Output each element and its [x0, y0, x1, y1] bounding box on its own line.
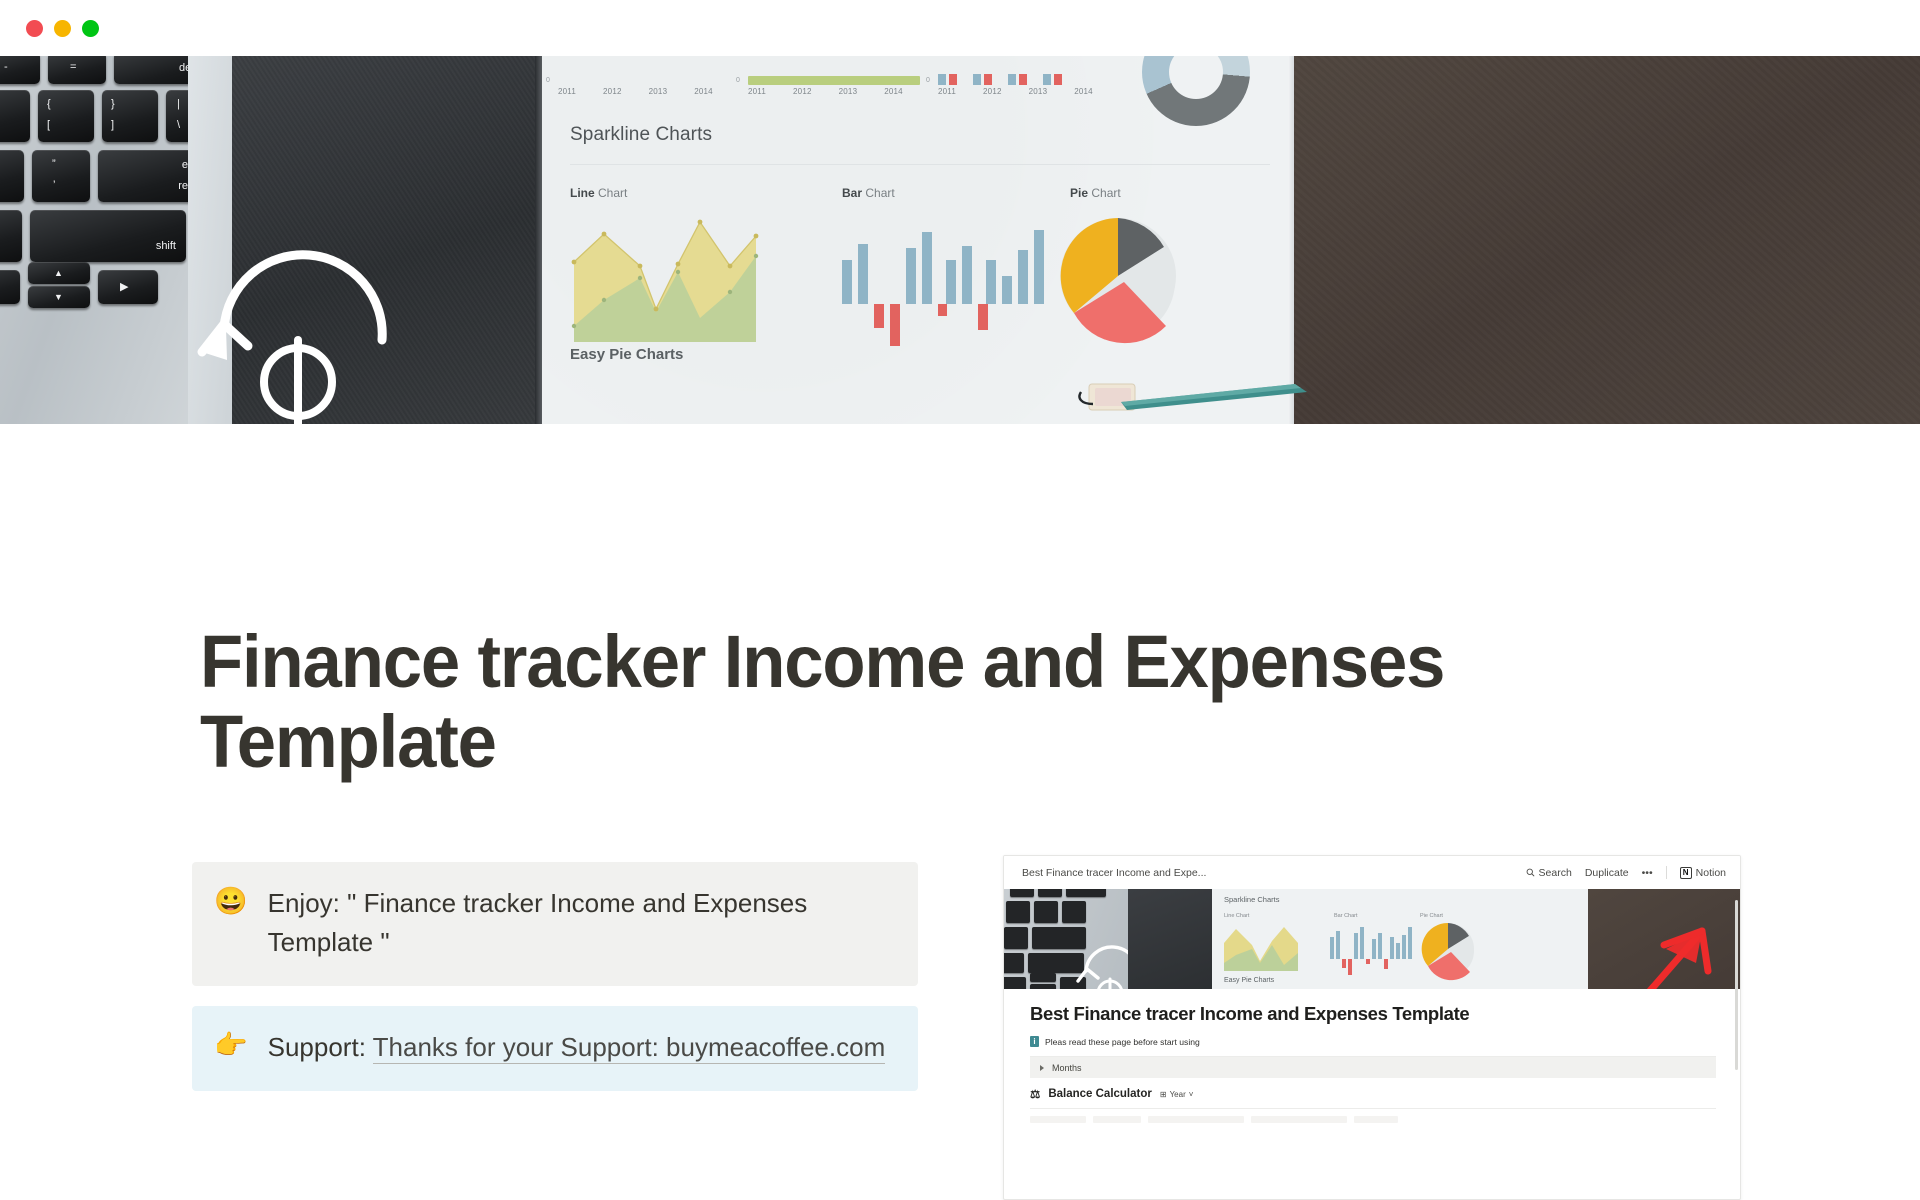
- preview-paper-section-title: Sparkline Charts: [1224, 895, 1279, 904]
- table-row: [1030, 1116, 1716, 1123]
- preview-actions: Search Duplicate ••• N Notion: [1526, 866, 1726, 879]
- preview-duplicate-label: Duplicate: [1585, 867, 1629, 879]
- preview-leather-region: [1588, 889, 1740, 989]
- table-icon: ⊞: [1160, 1090, 1167, 1099]
- grinning-face-emoji: 😀: [214, 884, 248, 962]
- preview-table-top-border: [1030, 1108, 1716, 1109]
- preview-pie-chart: [1418, 919, 1480, 981]
- notebook-photo-region: [232, 56, 542, 424]
- close-window-button[interactable]: [26, 20, 43, 37]
- browser-chrome: [0, 0, 1920, 56]
- preview-refresh-dollar-icon: [1074, 941, 1128, 989]
- key-shift: shift: [30, 210, 186, 262]
- preview-keyboard-region: [1004, 889, 1128, 989]
- callout-support-prefix: Support:: [268, 1032, 373, 1062]
- paper-rule: [570, 164, 1270, 165]
- pointing-right-emoji: 👉: [214, 1028, 248, 1067]
- callout-enjoy: 😀 Enjoy: " Finance tracker Income and Ex…: [192, 862, 918, 986]
- buymeacoffee-link[interactable]: Thanks for your Support: buymeacoffee.co…: [373, 1032, 886, 1064]
- paper-section-title: Sparkline Charts: [570, 124, 712, 146]
- preview-toolbar-divider: [1666, 866, 1667, 879]
- preview-toggle-label: Months: [1052, 1063, 1082, 1073]
- keyboard-photo-region: - = delete {[ }] |\ ”’ enterreturn ?/ sh…: [0, 56, 232, 424]
- callout-support-text: Support: Thanks for your Support: buymea…: [268, 1028, 886, 1067]
- preview-search-button[interactable]: Search: [1526, 867, 1572, 879]
- key-slash: ?/: [0, 210, 22, 262]
- key-semicolon: [0, 150, 24, 202]
- page-title: Finance tracker Income and Expenses Temp…: [200, 622, 1556, 782]
- preview-more-label: •••: [1642, 867, 1653, 879]
- preview-paper-region: Sparkline Charts Line Chart Bar Chart Pi…: [1212, 889, 1588, 989]
- chevron-down-icon: ˅: [1189, 1090, 1194, 1099]
- key-quote: ”’: [32, 150, 90, 202]
- maximize-window-button[interactable]: [82, 20, 99, 37]
- preview-doc-title: Best Finance tracer Income and Expenses …: [1030, 1003, 1716, 1025]
- preview-view-selector[interactable]: ⊞ Year ˅: [1160, 1090, 1194, 1099]
- preview-balance-calculator[interactable]: ⚖ Balance Calculator ⊞ Year ˅: [1030, 1087, 1716, 1101]
- preview-bar-chart: [1330, 923, 1416, 975]
- donut-chart: [1142, 56, 1250, 126]
- preview-duplicate-button[interactable]: Duplicate: [1585, 867, 1629, 879]
- chevron-right-icon: [1040, 1065, 1044, 1071]
- key-arrow-right: ▶: [98, 270, 158, 304]
- paper-bottom-title: Easy Pie Charts: [570, 346, 683, 363]
- chart-paper-photo-region: 0 2011201220132014 0 2011201220132014 0: [542, 56, 1288, 424]
- key-bracket-right: }]: [102, 90, 158, 142]
- callout-support: 👉 Support: Thanks for your Support: buym…: [192, 1006, 918, 1091]
- bar-chart-label: Bar Chart: [842, 186, 895, 200]
- preview-line-chart-label: Line Chart: [1224, 913, 1249, 919]
- preview-bar-chart-label: Bar Chart: [1334, 913, 1358, 919]
- preview-info-callout: i Pleas read these page before start usi…: [1030, 1036, 1716, 1047]
- preview-toggle-months[interactable]: Months: [1030, 1057, 1716, 1078]
- preview-banner-image: Sparkline Charts Line Chart Bar Chart Pi…: [1004, 889, 1740, 989]
- callout-enjoy-text: Enjoy: " Finance tracker Income and Expe…: [268, 884, 894, 962]
- bar-chart: [842, 214, 1062, 346]
- preview-paper-bottom-title: Easy Pie Charts: [1224, 977, 1274, 984]
- preview-notebook-region: [1128, 889, 1212, 989]
- key-bracket-left: {[: [38, 90, 94, 142]
- key-arrow-down: ▼: [28, 286, 90, 308]
- scale-icon: ⚖: [1030, 1087, 1040, 1101]
- preview-breadcrumb[interactable]: Best Finance tracer Income and Expe...: [1022, 867, 1526, 879]
- preview-notion-label: Notion: [1696, 867, 1726, 879]
- hero-banner-image: - = delete {[ }] |\ ”’ enterreturn ?/ sh…: [0, 56, 1920, 424]
- preview-notion-link[interactable]: N Notion: [1680, 867, 1726, 879]
- template-preview-card[interactable]: Best Finance tracer Income and Expe... S…: [1003, 855, 1741, 1200]
- line-chart-label: Line Chart: [570, 186, 627, 200]
- key-minus: -: [0, 56, 40, 84]
- callout-list: 😀 Enjoy: " Finance tracker Income and Ex…: [192, 862, 918, 1111]
- preview-line-area-chart: [1222, 921, 1308, 973]
- key-arrow-left: ◀: [0, 270, 20, 304]
- key-equals: =: [48, 56, 106, 84]
- preview-search-label: Search: [1539, 867, 1572, 879]
- minimize-window-button[interactable]: [54, 20, 71, 37]
- info-icon: i: [1030, 1036, 1039, 1047]
- leather-desk-pad-region: [1288, 56, 1920, 424]
- preview-scrollbar[interactable]: [1735, 900, 1738, 1070]
- line-area-chart: [570, 214, 800, 346]
- laptop-body-edge: [188, 56, 232, 424]
- preview-calculator-label: Balance Calculator: [1048, 1088, 1152, 1100]
- preview-document-body: Best Finance tracer Income and Expenses …: [1004, 989, 1740, 1123]
- notion-logo-icon: N: [1680, 867, 1692, 879]
- key-arrow-up: ▲: [28, 262, 90, 284]
- preview-info-text: Pleas read these page before start using: [1045, 1037, 1200, 1047]
- preview-topbar: Best Finance tracer Income and Expe... S…: [1004, 856, 1740, 889]
- pie-chart: [1052, 210, 1192, 350]
- eyeglasses-and-money-photo: [1075, 380, 1335, 414]
- preview-view-label: Year: [1170, 1090, 1186, 1099]
- preview-more-button[interactable]: •••: [1642, 867, 1653, 879]
- top-sparkline-axes: 0 2011201220132014 0 2011201220132014 0: [542, 56, 1288, 98]
- pie-chart-label: Pie Chart: [1070, 186, 1121, 200]
- key-p: [0, 90, 30, 142]
- search-icon: [1526, 868, 1535, 877]
